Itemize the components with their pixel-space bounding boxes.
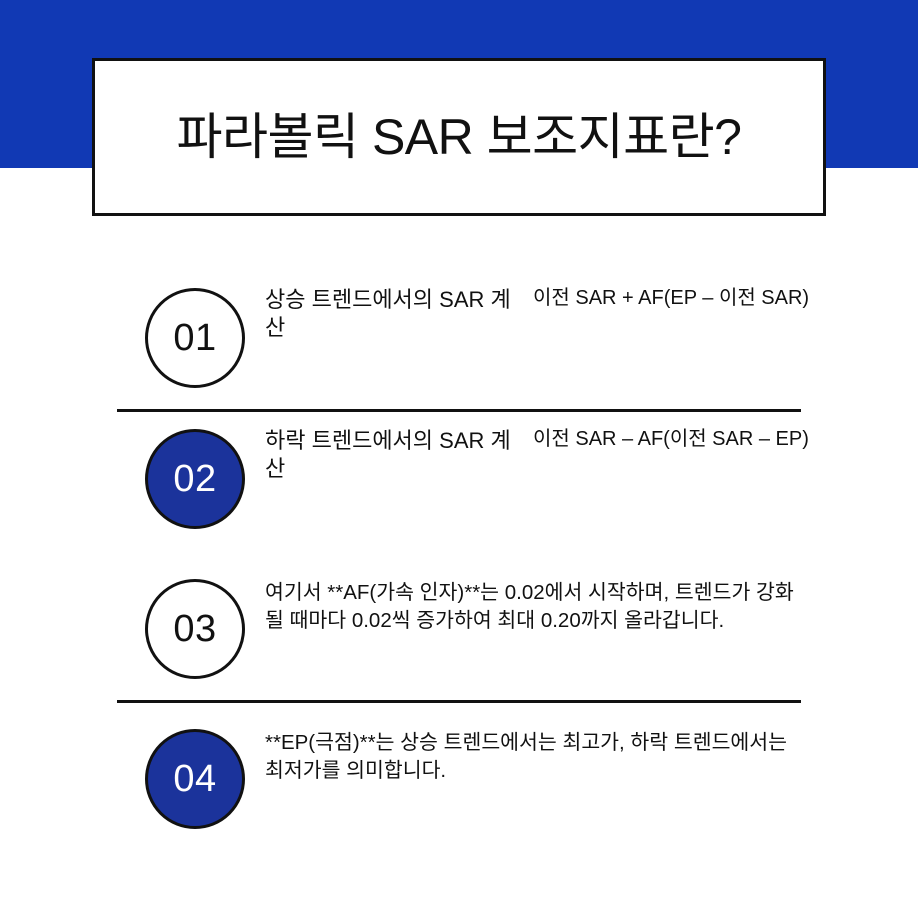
infographic-page: 파라볼릭 SAR 보조지표란? 01 상승 트렌드에서의 SAR 계산 이전 S…	[0, 0, 918, 915]
step-badge-03: 03	[145, 579, 245, 679]
page-title: 파라볼릭 SAR 보조지표란?	[177, 110, 742, 165]
row-label-02: 하락 트렌드에서의 SAR 계산	[265, 427, 533, 483]
row-body-03: 여기서 **AF(가속 인자)**는 0.02에서 시작하며, 트렌드가 강화될…	[265, 559, 820, 636]
row-value-01: 이전 SAR + AF(EP – 이전 SAR)	[533, 286, 820, 342]
row-body-04: **EP(극점)**는 상승 트렌드에서는 최고가, 하락 트렌드에서는 최저가…	[265, 709, 820, 786]
row-text-03: 여기서 **AF(가속 인자)**는 0.02에서 시작하며, 트렌드가 강화될…	[265, 577, 805, 636]
row-body-01: 상승 트렌드에서의 SAR 계산 이전 SAR + AF(EP – 이전 SAR…	[265, 268, 820, 342]
row-value-02: 이전 SAR – AF(이전 SAR – EP)	[533, 427, 820, 483]
content-rows: 01 상승 트렌드에서의 SAR 계산 이전 SAR + AF(EP – 이전 …	[0, 268, 918, 859]
step-badge-04: 04	[145, 729, 245, 829]
row-text-04: **EP(극점)**는 상승 트렌드에서는 최고가, 하락 트렌드에서는 최저가…	[265, 727, 805, 786]
title-box: 파라볼릭 SAR 보조지표란?	[92, 58, 826, 216]
row-body-02: 하락 트렌드에서의 SAR 계산 이전 SAR – AF(이전 SAR – EP…	[265, 409, 820, 483]
list-item-02: 02 하락 트렌드에서의 SAR 계산 이전 SAR – AF(이전 SAR –…	[0, 409, 918, 559]
list-item-01: 01 상승 트렌드에서의 SAR 계산 이전 SAR + AF(EP – 이전 …	[0, 268, 918, 409]
row-label-01: 상승 트렌드에서의 SAR 계산	[265, 286, 533, 342]
step-badge-02: 02	[145, 429, 245, 529]
step-badge-01: 01	[145, 288, 245, 388]
list-item-03: 03 여기서 **AF(가속 인자)**는 0.02에서 시작하며, 트렌드가 …	[0, 559, 918, 709]
list-item-04: 04 **EP(극점)**는 상승 트렌드에서는 최고가, 하락 트렌드에서는 …	[0, 709, 918, 859]
